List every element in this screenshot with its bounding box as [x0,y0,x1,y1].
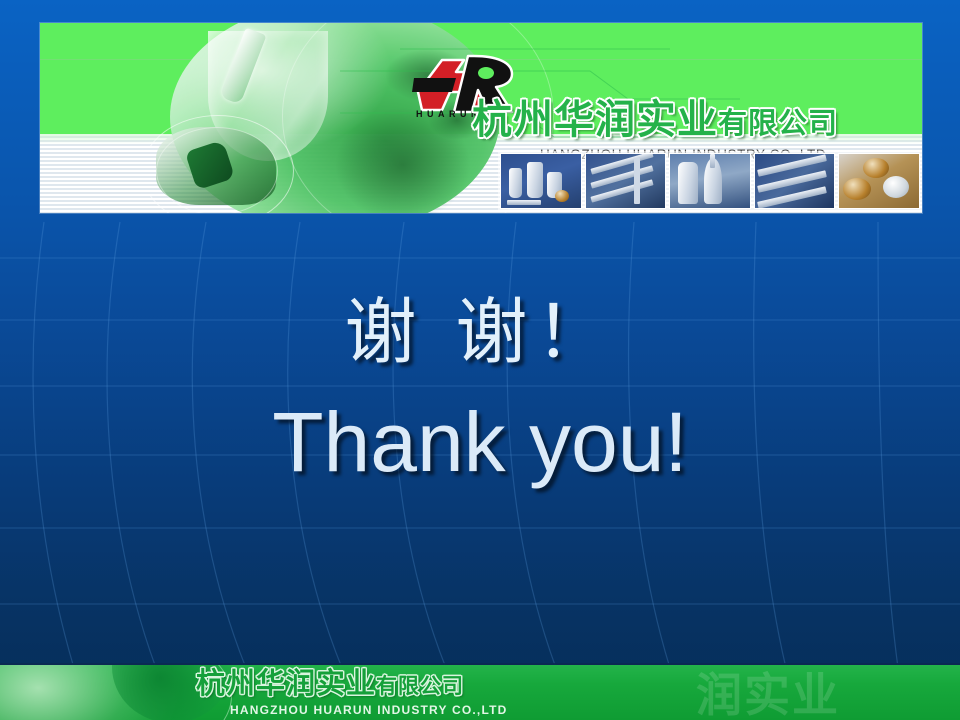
company-header-banner: HUARUN 杭州华润实业有限公司 HANGZHOU HUARUN INDUST… [40,23,922,213]
product-photo-cell [500,153,582,209]
thank-you-english-title: Thank you! [0,400,960,484]
footer-company-name-en: HANGZHOU HUARUN INDUSTRY CO.,LTD [230,703,508,717]
footer-bar: 润实业 杭州华润实业有限公司 HANGZHOU HUARUN INDUSTRY … [0,665,960,720]
footer-watermark: 润实业 [696,665,840,720]
thank-you-chinese-title: 谢 谢！ [0,296,960,368]
banner-company-name-cn-suffix: 有限公司 [718,106,838,140]
product-photo-cell [585,153,667,209]
presentation-slide: HUARUN 杭州华润实业有限公司 HANGZHOU HUARUN INDUST… [0,0,960,720]
banner-company-name-cn: 杭州华润实业有限公司 [472,100,838,140]
footer-company-name-cn-main: 杭州华润实业 [196,666,376,700]
product-photo-cell [838,153,920,209]
product-photo-strip [498,151,922,211]
footer-company-name-cn-suffix: 有限公司 [376,674,464,698]
product-photo-cell [669,153,751,209]
product-photo-cell [754,153,836,209]
banner-company-name-cn-main: 杭州华润实业 [472,97,718,143]
footer-company-name-cn: 杭州华润实业有限公司 [196,669,464,698]
